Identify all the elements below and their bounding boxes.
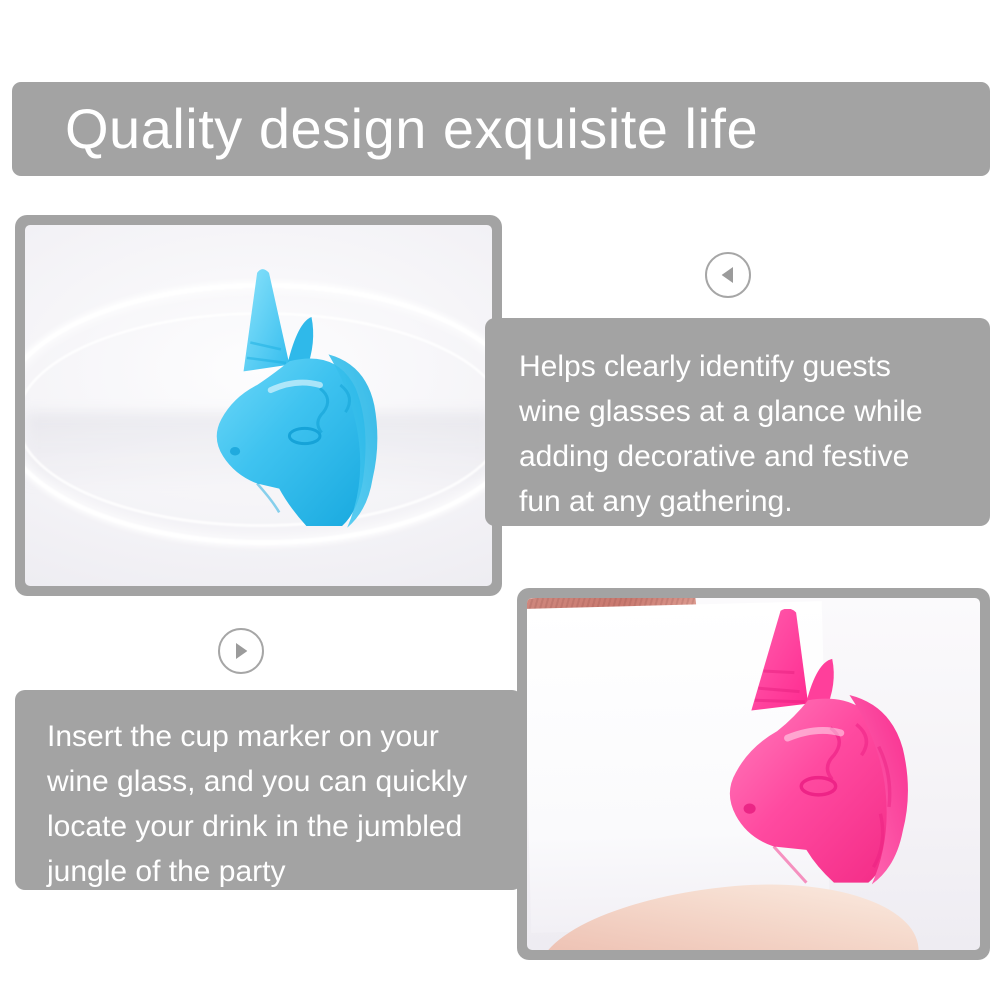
photo-pink-unicorn-in-hand [517, 588, 990, 960]
benefit-text: Helps clearly identify guests wine glass… [519, 344, 956, 524]
pink-photo-scene [527, 598, 980, 950]
chevron-left-circle-icon [705, 252, 751, 298]
photo-blue-unicorn-on-glass [15, 215, 502, 596]
photo-pink-unicorn-inner [527, 598, 980, 950]
blue-unicorn-marker-icon [151, 261, 394, 550]
header-banner: Quality design exquisite life [12, 82, 990, 176]
usage-text: Insert the cup marker on your wine glass… [47, 714, 490, 894]
chevron-right-circle-icon [218, 628, 264, 674]
usage-text-panel: Insert the cup marker on your wine glass… [15, 690, 522, 890]
photo-blue-unicorn-inner [25, 225, 492, 586]
benefit-text-panel: Helps clearly identify guests wine glass… [485, 318, 990, 526]
blue-photo-scene [25, 225, 492, 586]
page-title: Quality design exquisite life [12, 101, 758, 157]
pink-unicorn-marker-icon [663, 609, 926, 919]
infographic-stage: Quality design exquisite life [0, 0, 1000, 1000]
